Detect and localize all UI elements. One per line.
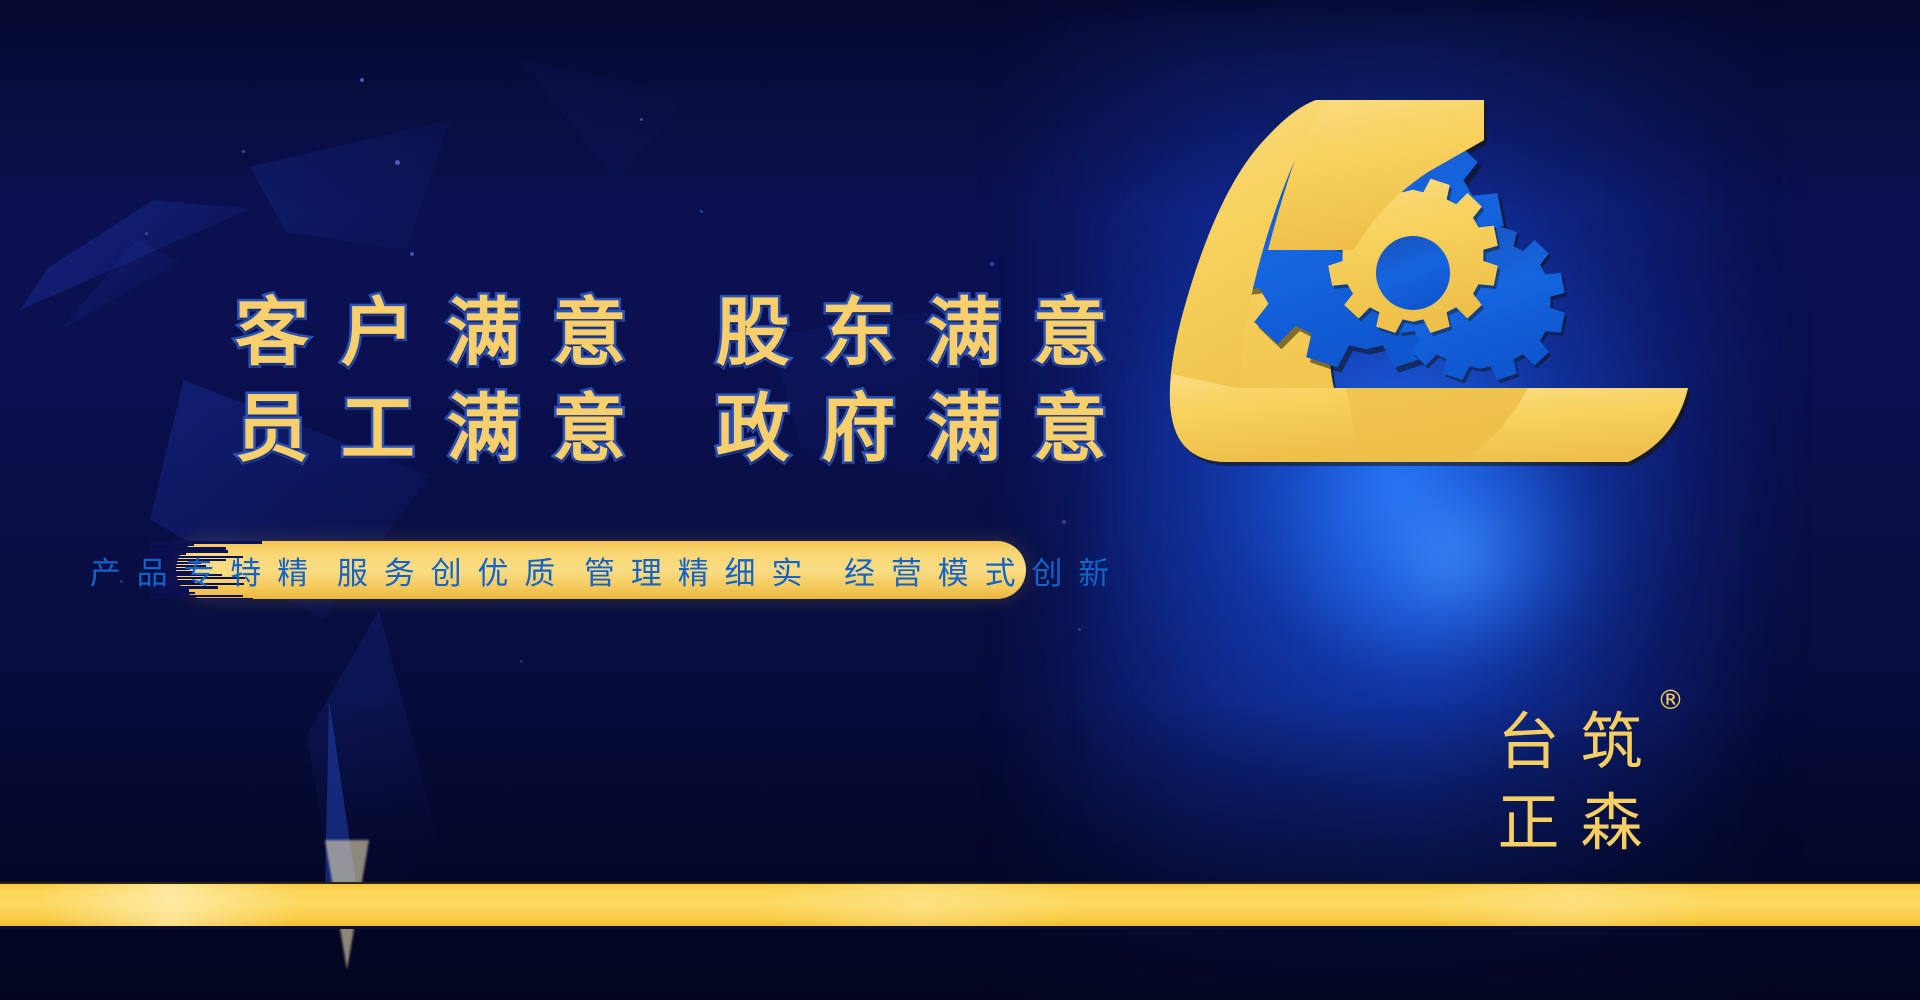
headline-line-1: 客 户 满 意 股 东 满 意	[235, 285, 995, 381]
brand-char-2: 筑	[1573, 703, 1650, 782]
footer-bar-highlight-3	[1420, 884, 1720, 926]
headline-block: 客 户 满 意 股 东 满 意 员 工 满 意 政 府 满 意	[235, 285, 995, 477]
slogan-banner-text: 产 品 专 特 精 服 务 创 优 质 管 理 精 细 实 经 营 模 式 创 …	[176, 541, 1026, 599]
footer-bar-highlight-1	[40, 884, 300, 926]
headline-line-2: 员 工 满 意 政 府 满 意	[235, 381, 995, 477]
gold-footer-bar	[0, 882, 1920, 929]
gear-hub-icon	[1376, 236, 1450, 310]
brand-char-4: 森	[1573, 784, 1650, 863]
registered-trademark-icon: ®	[1657, 685, 1684, 716]
brand-char-3: 正	[1490, 784, 1567, 863]
banner-stage: 客 户 满 意 股 东 满 意 员 工 满 意 政 府 满 意 产 品 专 特 …	[0, 0, 1920, 1000]
footer-bar-highlight-2	[760, 884, 1080, 926]
slogan-banner: 产 品 专 特 精 服 务 创 优 质 管 理 精 细 实 经 营 模 式 创 …	[150, 541, 1050, 599]
brand-wordmark: ® 台 筑 正 森	[1490, 685, 1690, 865]
brand-character-grid: 台 筑 正 森	[1490, 703, 1650, 863]
company-logo	[1128, 88, 1708, 478]
brand-char-1: 台	[1490, 703, 1567, 782]
